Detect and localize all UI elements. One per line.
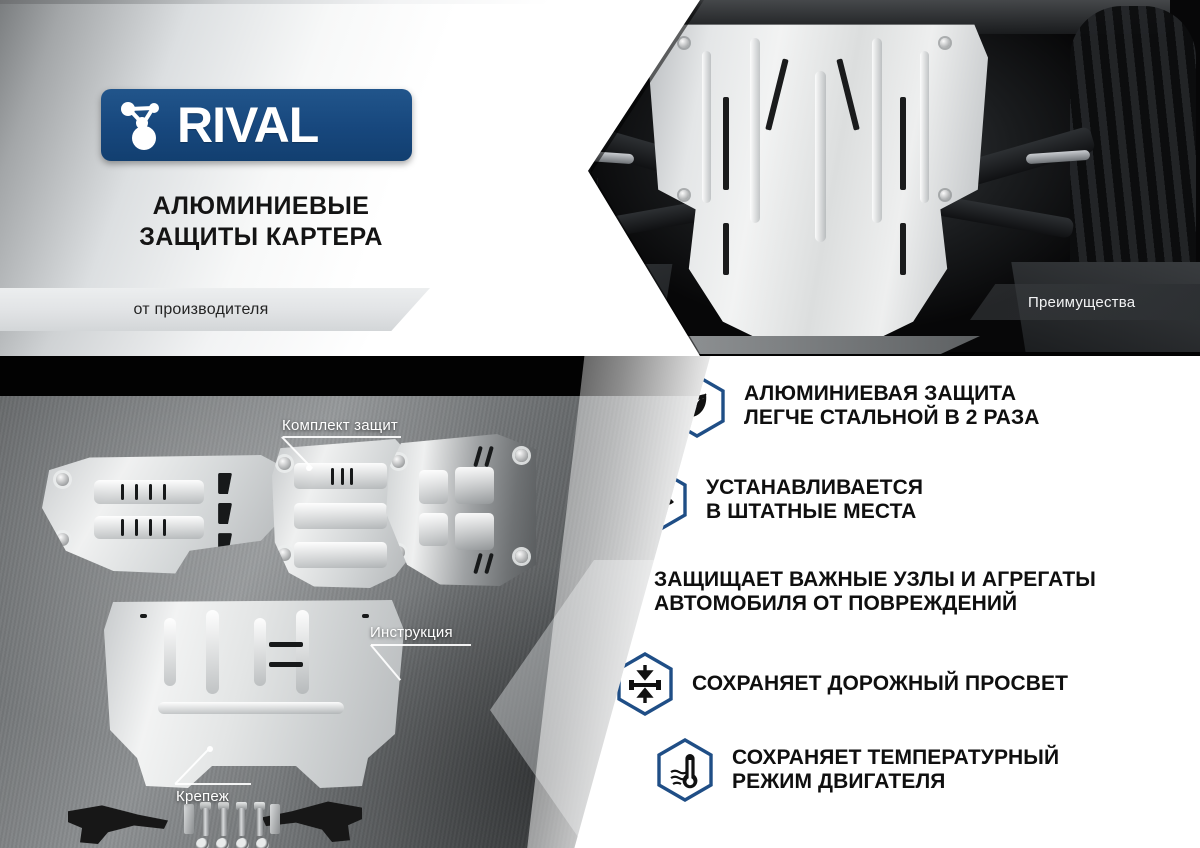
callout-kit-underline — [283, 436, 401, 438]
callout-instruction: Инструкция — [370, 624, 453, 641]
page-title: АЛЮМИНИЕВЫЕ ЗАЩИТЫ КАРТЕРА — [96, 191, 426, 253]
callout-kit-dot — [306, 465, 312, 471]
callout-hardware: Крепеж — [176, 788, 229, 805]
molecule-icon — [113, 95, 175, 155]
feature-label: УСТАНАВЛИВАЕТСЯ В ШТАТНЫЕ МЕСТА — [706, 476, 923, 524]
promo-banner: Преимущества RIVAL АЛЮМИНИЕВЫЕ ЗАЩИТЫ КА… — [0, 0, 1200, 848]
subtitle-text: от производителя — [134, 301, 269, 319]
advantages-tab-label: Преимущества — [1028, 294, 1135, 311]
feature-item-clearance[interactable]: СОХРАНЯЕТ ДОРОЖНЫЙ ПРОСВЕТ — [616, 652, 1068, 716]
callout-hardware-dot — [207, 746, 213, 752]
branding-wedge-inner — [0, 4, 676, 324]
feature-label: АЛЮМИНИЕВАЯ ЗАЩИТА ЛЕГЧЕ СТАЛЬНОЙ В 2 РА… — [744, 382, 1040, 430]
callout-instruction-underline — [371, 644, 471, 646]
feature-label: СОХРАНЯЕТ ТЕМПЕРАТУРНЫЙ РЕЖИМ ДВИГАТЕЛЯ — [732, 746, 1059, 794]
feature-item-lightweight[interactable]: АЛЮМИНИЕВАЯ ЗАЩИТА ЛЕГЧЕ СТАЛЬНОЙ В 2 РА… — [668, 374, 1040, 438]
subtitle-bar: от производителя — [0, 288, 430, 331]
advantages-tab[interactable]: Преимущества — [970, 284, 1200, 320]
feature-label: ЗАЩИЩАЕТ ВАЖНЫЕ УЗЛЫ И АГРЕГАТЫ АВТОМОБИ… — [654, 568, 1096, 616]
skid-plate-transfer-case — [386, 434, 536, 586]
callout-hardware-underline — [175, 783, 251, 785]
feature-label: СОХРАНЯЕТ ДОРОЖНЫЙ ПРОСВЕТ — [692, 672, 1068, 696]
rival-logo: RIVAL — [101, 89, 412, 161]
callout-kit: Комплект защит — [282, 417, 398, 434]
skid-plate-main — [104, 590, 404, 790]
feature-item-temperature[interactable]: СОХРАНЯЕТ ТЕМПЕРАТУРНЫЙ РЕЖИМ ДВИГАТЕЛЯ — [656, 738, 1059, 802]
rival-logo-text: RIVAL — [177, 100, 318, 150]
thermometer-icon — [656, 738, 714, 802]
feature-item-protects[interactable]: ЗАЩИЩАЕТ ВАЖНЫЕ УЗЛЫ И АГРЕГАТЫ АВТОМОБИ… — [578, 560, 1096, 624]
mounting-bracket-left — [68, 802, 168, 844]
